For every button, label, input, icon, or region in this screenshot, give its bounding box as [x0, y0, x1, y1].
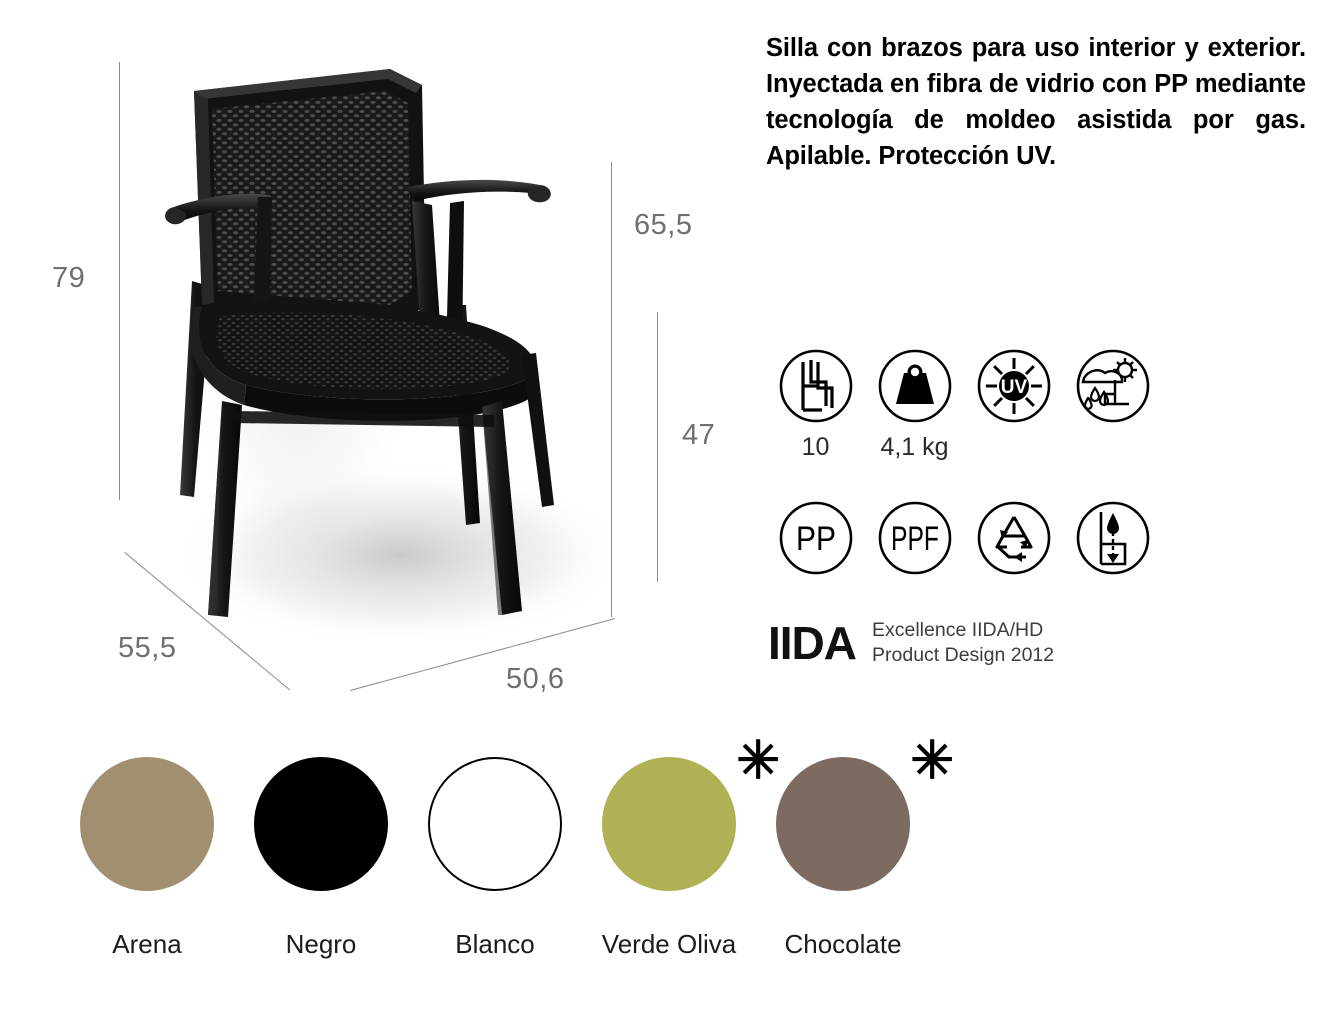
color-label-negro: Negro	[286, 929, 357, 960]
color-option-negro[interactable]: Negro	[234, 757, 408, 960]
feature-weight: 4,1 kg	[865, 348, 964, 462]
dimension-label-total-height: 79	[52, 262, 85, 295]
feature-water-drainage	[1063, 500, 1162, 585]
color-option-arena[interactable]: Arena	[60, 757, 234, 960]
color-swatch-arena[interactable]	[80, 757, 214, 891]
color-option-chocolate[interactable]: ✳ Chocolate	[756, 757, 930, 960]
color-swatch-chocolate[interactable]	[776, 757, 910, 891]
feature-icons-row-secondary: PP PPF	[766, 500, 1162, 585]
iida-logo: IIDA	[768, 620, 856, 666]
award-line-1: Excellence IIDA/HD	[872, 618, 1054, 643]
swatch-wrap-arena	[80, 757, 214, 891]
color-option-blanco[interactable]: Blanco	[408, 757, 582, 960]
award-badge: IIDA Excellence IIDA/HD Product Design 2…	[768, 618, 1054, 668]
svg-text:UV: UV	[1000, 377, 1027, 398]
product-description: Silla con brazos para uso interior y ext…	[766, 30, 1306, 174]
swatch-wrap-verde-oliva: ✳	[602, 757, 736, 891]
product-info-panel: Silla con brazos para uso interior y ext…	[766, 30, 1306, 174]
feature-icons-row-primary: 10 4,1 kg UV	[766, 348, 1162, 462]
ppf-material-icon: PPF	[877, 500, 953, 576]
asterisk-icon-chocolate: ✳	[910, 735, 954, 787]
dimension-label-back-height: 65,5	[634, 209, 692, 242]
color-label-chocolate: Chocolate	[784, 929, 901, 960]
color-label-verde-oliva: Verde Oliva	[602, 929, 736, 960]
pp-material-icon: PP	[778, 500, 854, 576]
color-swatch-negro[interactable]	[254, 757, 388, 891]
swatch-wrap-chocolate: ✳	[776, 757, 910, 891]
uv-protection-icon: UV	[976, 348, 1052, 424]
feature-weather-resistant	[1063, 348, 1162, 462]
weight-icon	[877, 348, 953, 424]
dimension-line-back-height	[611, 162, 612, 617]
dimension-line-total-height	[119, 62, 120, 500]
weather-resistant-icon	[1075, 348, 1151, 424]
weight-value: 4,1 kg	[880, 433, 948, 462]
feature-ppf-material: PPF	[865, 500, 964, 585]
award-description: Excellence IIDA/HD Product Design 2012	[872, 618, 1054, 668]
product-drawing-panel: 79 65,5 47 55,5 50,6	[0, 0, 740, 730]
dimension-label-width: 50,6	[506, 663, 564, 696]
water-drainage-icon	[1075, 500, 1151, 576]
feature-recyclable	[964, 500, 1063, 585]
dimension-line-seat-height	[657, 312, 658, 582]
dimension-label-seat-height: 47	[682, 419, 715, 452]
stackable-icon	[778, 348, 854, 424]
chair-illustration	[150, 55, 610, 655]
recyclable-icon	[976, 500, 1052, 576]
color-swatch-blanco[interactable]	[428, 757, 562, 891]
color-options: Arena Negro Blanco ✳ Verde Oliva ✳ Choco…	[60, 757, 930, 960]
color-label-blanco: Blanco	[455, 929, 535, 960]
svg-text:PPF: PPF	[891, 520, 939, 558]
feature-uv-protection: UV	[964, 348, 1063, 462]
svg-text:PP: PP	[796, 520, 836, 558]
swatch-wrap-negro	[254, 757, 388, 891]
stackable-count: 10	[802, 433, 830, 462]
feature-pp-material: PP	[766, 500, 865, 585]
award-line-2: Product Design 2012	[872, 643, 1054, 668]
color-option-verde-oliva[interactable]: ✳ Verde Oliva	[582, 757, 756, 960]
color-label-arena: Arena	[112, 929, 181, 960]
feature-stackable: 10	[766, 348, 865, 462]
color-swatch-verde-oliva[interactable]	[602, 757, 736, 891]
swatch-wrap-blanco	[428, 757, 562, 891]
